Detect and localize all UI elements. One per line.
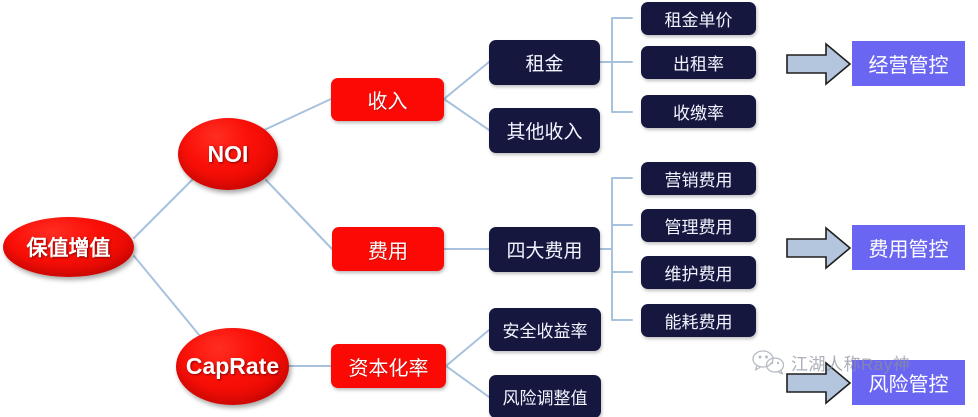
node-caprate[interactable]: CapRate	[176, 328, 289, 405]
node-expense[interactable]: 费用	[332, 227, 444, 271]
outcome-expense-control-label: 费用管控	[869, 233, 949, 262]
connector-rent-bracket	[600, 18, 632, 112]
connector-root-noi	[134, 176, 196, 238]
node-risk-adjustment[interactable]: 风险调整值	[489, 375, 601, 417]
connector-cap-risk	[446, 366, 489, 397]
connector-four-bracket	[600, 178, 632, 320]
node-income-label: 收入	[368, 85, 408, 114]
outcome-risk-control-label: 风险管控	[869, 368, 949, 397]
node-capitalization-rate[interactable]: 资本化率	[331, 344, 446, 388]
node-safe-yield-rate-label: 安全收益率	[503, 317, 588, 342]
node-rent-unit-price-label: 租金单价	[665, 6, 733, 31]
node-noi[interactable]: NOI	[178, 118, 278, 190]
connector-income-other	[444, 99, 489, 130]
diagram-canvas: 保值增值 NOI CapRate 收入 费用 资本化率 租金 其他收入 四大费用…	[0, 0, 978, 417]
node-other-income-label: 其他收入	[506, 117, 582, 144]
node-management-expense[interactable]: 管理费用	[641, 209, 756, 242]
outcome-operations-control[interactable]: 经营管控	[852, 41, 965, 86]
connector-cap-safe	[446, 330, 489, 366]
node-rent-label: 租金	[525, 49, 563, 76]
node-marketing-expense-label: 营销费用	[665, 166, 733, 191]
node-collection-rate-label: 收缴率	[673, 99, 724, 124]
node-expense-label: 费用	[368, 235, 408, 264]
node-rent-unit-price[interactable]: 租金单价	[641, 2, 756, 35]
connector-income-rent	[444, 62, 489, 99]
node-four-expenses[interactable]: 四大费用	[489, 227, 600, 272]
node-root-baozhizengzhi[interactable]: 保值增值	[3, 217, 134, 277]
node-other-income[interactable]: 其他收入	[489, 108, 600, 153]
node-root-label: 保值增值	[27, 232, 111, 262]
node-management-expense-label: 管理费用	[665, 213, 733, 238]
node-collection-rate[interactable]: 收缴率	[641, 95, 756, 128]
connector-noi-income	[262, 99, 331, 131]
node-occupancy-rate-label: 出租率	[673, 50, 724, 75]
node-occupancy-rate[interactable]: 出租率	[641, 46, 756, 79]
node-maintenance-expense[interactable]: 维护费用	[641, 256, 756, 289]
wechat-icon	[752, 349, 786, 375]
connector-root-caprate	[134, 256, 200, 336]
node-capitalization-rate-label: 资本化率	[349, 352, 429, 381]
arrow-to-feiyong	[786, 226, 852, 270]
node-income[interactable]: 收入	[331, 78, 444, 121]
connector-noi-expense	[266, 180, 332, 249]
node-caprate-label: CapRate	[186, 353, 279, 380]
node-safe-yield-rate[interactable]: 安全收益率	[489, 308, 601, 351]
outcome-expense-control[interactable]: 费用管控	[852, 225, 965, 270]
arrow-to-fengxian	[786, 361, 852, 405]
arrow-to-jingying	[786, 42, 852, 86]
node-marketing-expense[interactable]: 营销费用	[641, 162, 756, 195]
node-risk-adjustment-label: 风险调整值	[503, 384, 588, 409]
outcome-operations-control-label: 经营管控	[869, 49, 949, 78]
node-energy-expense[interactable]: 能耗费用	[641, 304, 756, 337]
node-energy-expense-label: 能耗费用	[665, 308, 733, 333]
outcome-risk-control[interactable]: 风险管控	[852, 360, 965, 405]
node-noi-label: NOI	[208, 141, 249, 168]
node-maintenance-expense-label: 维护费用	[665, 260, 733, 285]
node-rent[interactable]: 租金	[489, 40, 600, 85]
node-four-expenses-label: 四大费用	[506, 236, 582, 263]
